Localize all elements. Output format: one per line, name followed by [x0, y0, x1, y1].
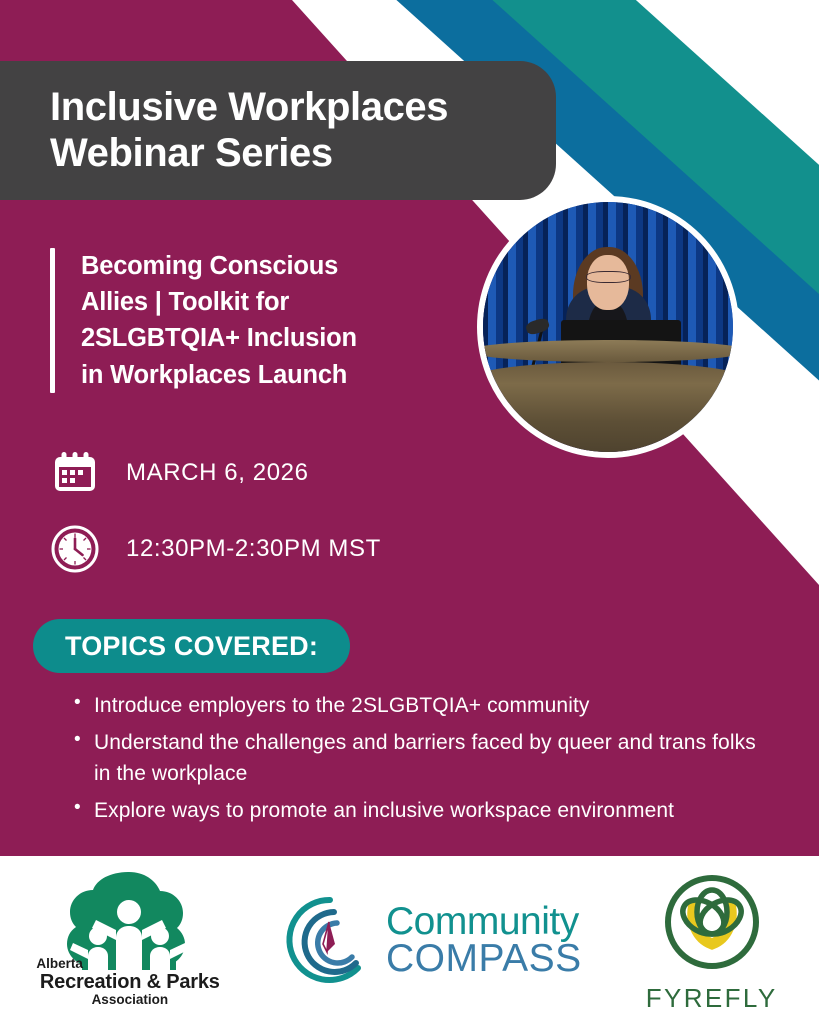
header-bar: Inclusive Workplaces Webinar Series — [0, 61, 556, 200]
poster: Inclusive Workplaces Webinar Series Beco… — [0, 0, 819, 1024]
subtitle-block: Becoming Conscious Allies | Toolkit for … — [50, 248, 357, 393]
logo-community-compass: Community COMPASS — [282, 885, 582, 995]
list-item: Explore ways to promote an inclusive wor… — [72, 795, 772, 826]
page-title: Inclusive Workplaces Webinar Series — [50, 85, 448, 176]
podium-rim — [483, 340, 733, 363]
speaker-photo-inner — [483, 202, 733, 452]
event-time-row: 12:30PM-2:30PM MST — [46, 520, 381, 578]
arpa-line-1: Alberta — [36, 957, 237, 972]
event-date-row: MARCH 6, 2026 — [46, 444, 309, 502]
podium — [483, 362, 733, 452]
arpa-wordmark: Alberta Recreation & Parks Association — [22, 957, 237, 1008]
calendar-icon — [46, 444, 104, 502]
compass-wordmark: Community COMPASS — [386, 903, 582, 978]
event-date-label: MARCH 6, 2026 — [126, 459, 309, 487]
event-time-label: 12:30PM-2:30PM MST — [126, 535, 381, 563]
arpa-line-3: Association — [22, 993, 237, 1008]
speaker-photo — [477, 196, 739, 458]
logo-alberta-recreation-parks-association: Alberta Recreation & Parks Association — [22, 870, 237, 1010]
topics-list: Introduce employers to the 2SLGBTQIA+ co… — [72, 690, 772, 832]
topics-covered-label: TOPICS COVERED: — [65, 631, 318, 662]
topics-covered-badge: TOPICS COVERED: — [33, 619, 350, 673]
compass-word-compass: COMPASS — [386, 940, 582, 977]
compass-word-community: Community — [386, 903, 582, 940]
subtitle-text: Becoming Conscious Allies | Toolkit for … — [81, 248, 357, 393]
list-item: Introduce employers to the 2SLGBTQIA+ co… — [72, 690, 772, 721]
compass-c-icon — [282, 892, 378, 988]
arpa-line-2: Recreation & Parks — [22, 972, 237, 994]
list-item: Understand the challenges and barriers f… — [72, 727, 772, 789]
footer-logos: Alberta Recreation & Parks Association C… — [0, 856, 819, 1024]
fyrefly-wordmark: FYREFLY — [627, 983, 797, 1014]
subtitle-accent-bar — [50, 248, 55, 393]
clock-icon — [46, 520, 104, 578]
fyrefly-loops-icon — [660, 870, 764, 974]
speaker-glasses — [586, 271, 631, 284]
logo-fyrefly: FYREFLY — [627, 870, 797, 1010]
